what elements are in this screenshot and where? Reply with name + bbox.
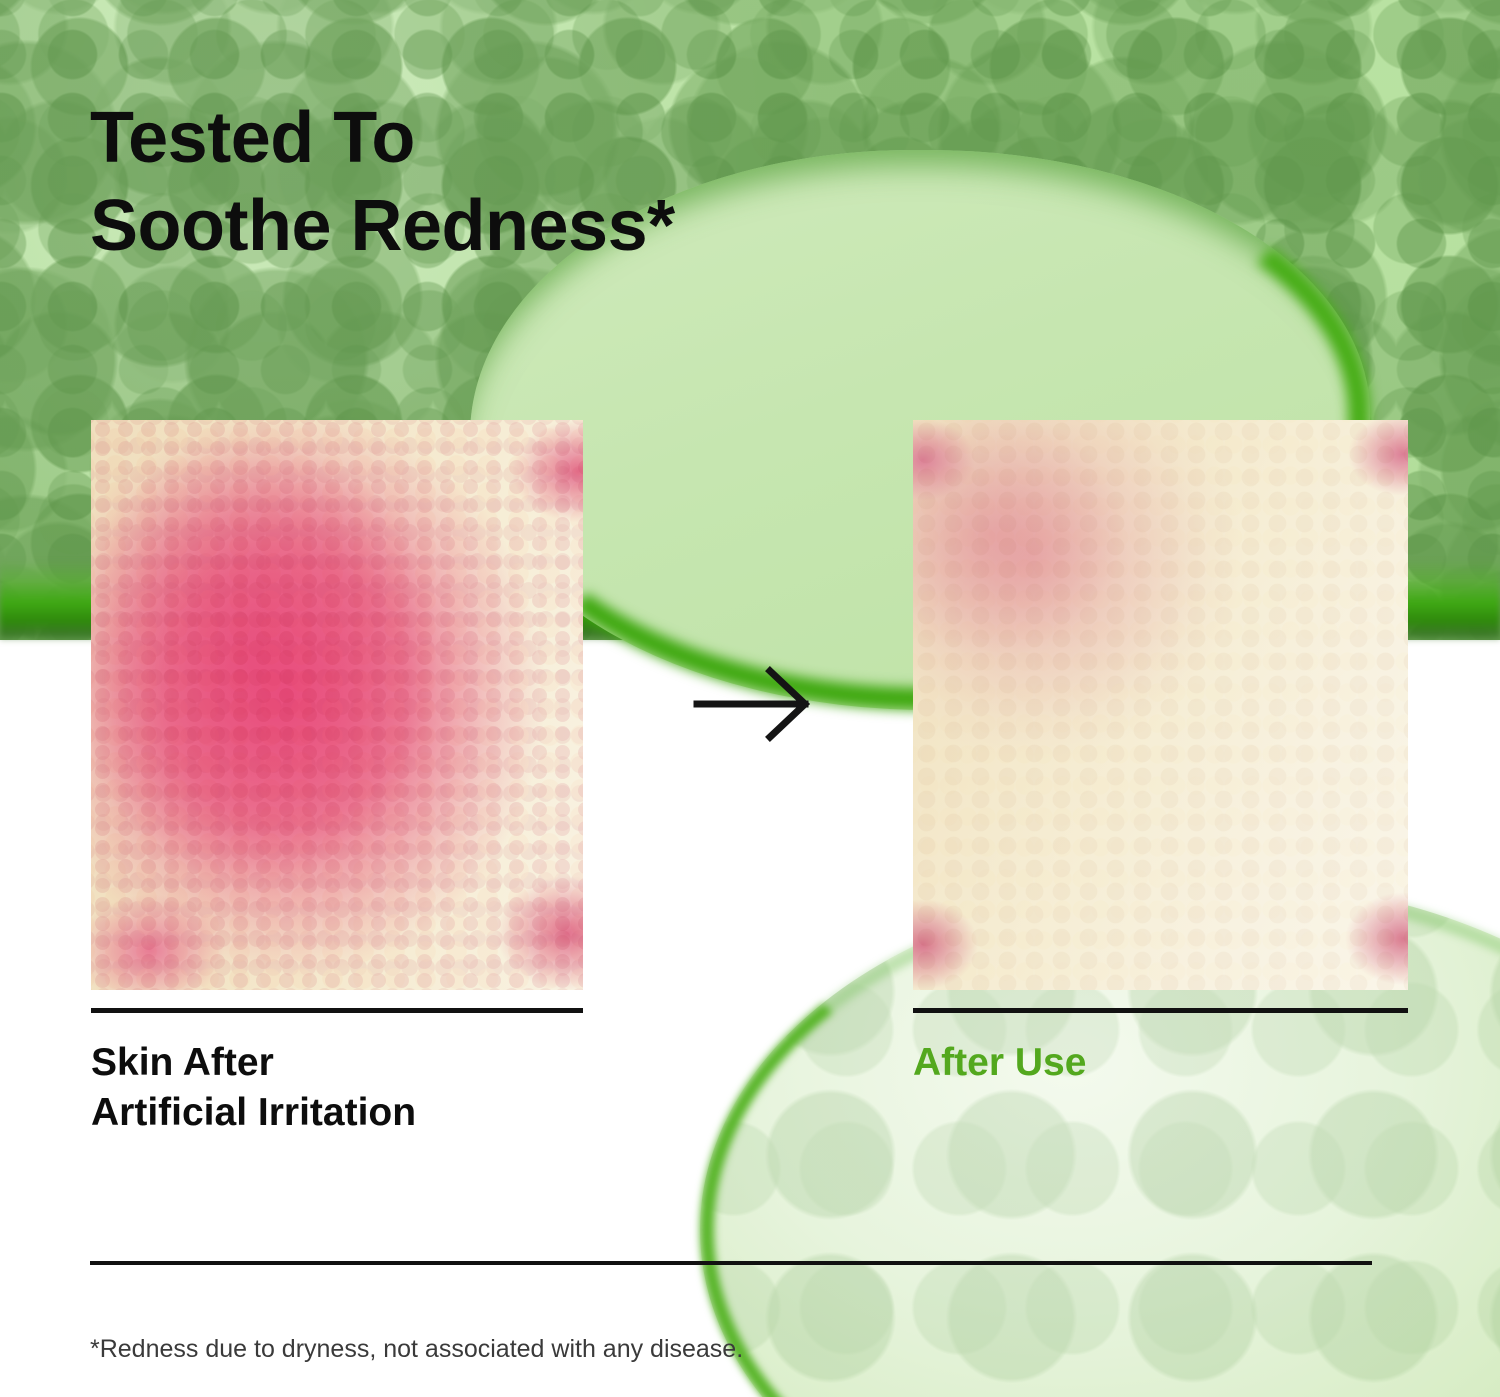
page-title: Tested To Soothe Redness*	[90, 95, 990, 271]
disclaimer-line-1: *Redness due to dryness, not associated …	[90, 1333, 1420, 1367]
footer-divider	[90, 1261, 1372, 1265]
after-photo-texture	[913, 420, 1408, 990]
arrow-right-icon	[693, 665, 821, 743]
before-photo-texture	[91, 420, 583, 990]
marketing-banner: Tested To Soothe Redness* Skin After Art…	[0, 0, 1500, 1397]
before-caption-divider	[91, 1008, 583, 1013]
before-skin-photo	[91, 420, 583, 990]
after-caption-divider	[913, 1008, 1408, 1013]
disclaimer-text: *Redness due to dryness, not associated …	[90, 1299, 1420, 1397]
after-skin-photo	[913, 420, 1408, 990]
after-caption-label: After Use	[913, 1038, 1500, 1088]
before-caption-label: Skin After Artificial Irritation	[91, 1038, 691, 1138]
